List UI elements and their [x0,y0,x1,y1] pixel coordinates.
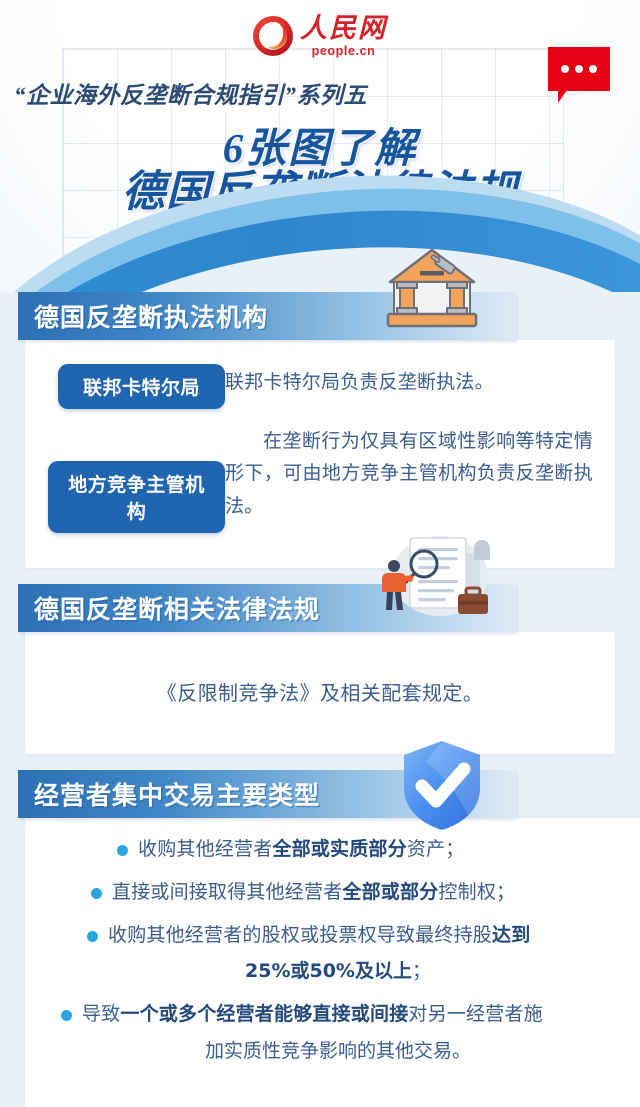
bullet-text: 导致一个或多个经营者能够直接或间接对另一经营者施 [82,999,543,1030]
shield-check-icon [396,736,488,834]
agency-pill-list: 联邦卡特尔局 地方竞争主管机构 [25,354,225,533]
section-header-bar: 德国反垄断相关法律法规 [18,584,516,632]
list-item: 收购其他经营者的股权或投票权导致最终持股达到 [43,920,633,951]
bullet-text: 收购其他经营者的股权或投票权导致最终持股达到 [108,920,530,951]
courthouse-gavel-icon [384,244,480,336]
section-heading: 经营者集中交易主要类型 [34,776,320,812]
related-laws-text: 《反限制竞争法》及相关配套规定。 [157,677,483,706]
people-daily-swirl-icon [251,14,295,58]
page-title-line-1: 6张图了解 [0,126,640,170]
site-logo[interactable]: 人民网 people.cn [251,12,411,60]
speech-dot [575,65,583,73]
section-content-card: 联邦卡特尔局 地方竞争主管机构 联邦卡特尔局负责反垄断执法。 在垄断行为仅具有区… [25,340,615,568]
bullet-dot-icon [117,845,128,856]
bullet-text: 直接或间接取得其他经营者全部或部分控制权； [112,877,515,908]
logo-wordmark: 人民网 people.cn [300,15,387,58]
section-content-card: 收购其他经营者全部或实质部分资产； 直接或间接取得其他经营者全部或部分控制权； … [25,818,640,1107]
list-item: 收购其他经营者全部或实质部分资产； [43,834,633,865]
logo-domain: people.cn [312,45,376,58]
speech-bubble-ellipsis-icon[interactable] [548,47,610,91]
list-item: 直接或间接取得其他经营者全部或部分控制权； [43,877,633,908]
section-content-card: 《反限制竞争法》及相关配套规定。 [25,632,615,754]
speech-dot [589,65,597,73]
section-header-bar: 德国反垄断执法机构 [18,292,516,340]
document-magnifier-icon [366,532,494,618]
agency-paragraph-2: 在垄断行为仅具有区域性影响等特定情形下，可由地方竞争主管机构负责反垄断执法。 [225,425,593,523]
bullet-dot-icon [87,931,98,942]
bullet-dot-icon [61,1010,72,1021]
agency-paragraph-1: 联邦卡特尔局负责反垄断执法。 [225,366,593,399]
bullet-text: 收购其他经营者全部或实质部分资产； [138,834,464,865]
bullet-dot-icon [91,888,102,899]
agency-description-column: 联邦卡特尔局负责反垄断执法。 在垄断行为仅具有区域性影响等特定情形下，可由地方竞… [225,354,615,523]
series-label: “企业海外反垄断合规指引”系列五 [14,76,367,110]
section-heading: 德国反垄断相关法律法规 [34,590,320,626]
infographic-body: 德国反垄断执法机构 [0,292,640,1107]
logo-chinese-name: 人民网 [300,15,387,42]
bullet-continuation: 25%或50%及以上； [43,956,633,987]
speech-dot [561,65,569,73]
bullet-continuation: 加实质性竞争影响的其他交易。 [43,1036,633,1067]
list-item: 导致一个或多个经营者能够直接或间接对另一经营者施 [43,999,633,1030]
infographic-header: 人民网 people.cn “企业海外反垄断合规指引”系列五 6张图了解 德国反… [0,0,640,292]
agency-pill-local-authority[interactable]: 地方竞争主管机构 [48,461,225,533]
section-heading: 德国反垄断执法机构 [34,298,268,334]
section-related-laws: 德国反垄断相关法律法规 [0,584,640,754]
section-header-bar: 经营者集中交易主要类型 [18,770,516,818]
agency-pill-federal-cartel-office[interactable]: 联邦卡特尔局 [58,364,225,409]
section-enforcement-agencies: 德国反垄断执法机构 [0,292,640,568]
section-concentration-types: 经营者集中交易主要类型 [0,770,640,1107]
